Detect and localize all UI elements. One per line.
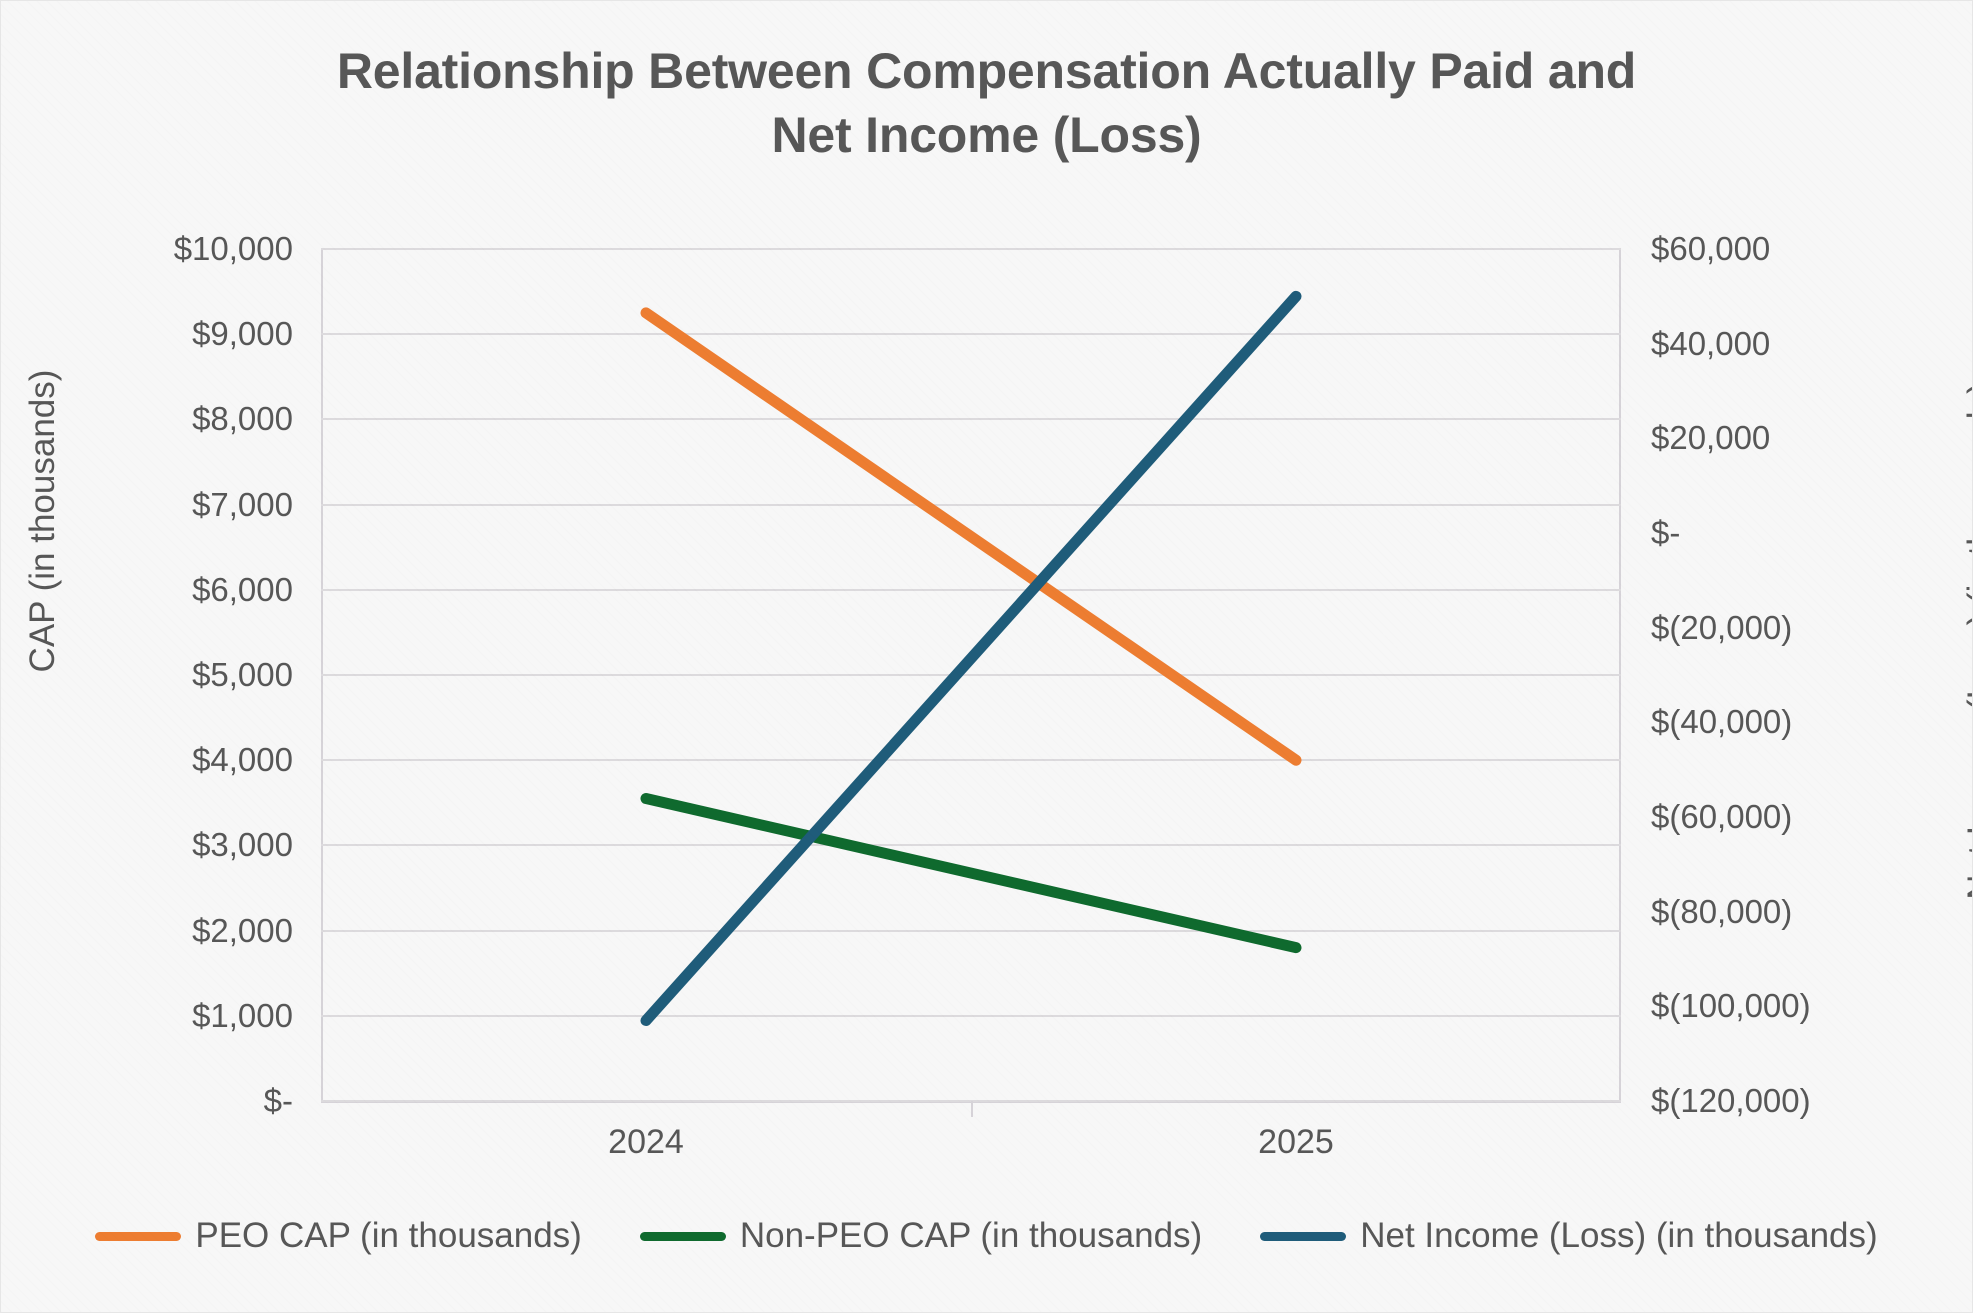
legend-label: PEO CAP (in thousands) [195,1216,582,1256]
left-axis-tick-label: $6,000 [192,571,293,609]
left-axis-tick-label: $2,000 [192,912,293,950]
x-axis-tick-mark [971,1101,973,1117]
left-axis-tick-label: $- [264,1082,293,1120]
plot-area [321,249,1621,1101]
series-line [646,296,1296,1020]
left-axis-tick-label: $8,000 [192,400,293,438]
series-line [646,313,1296,760]
legend-swatch-icon [1260,1232,1346,1241]
right-axis-tick-label: $(80,000) [1651,893,1792,931]
left-axis-tick-label: $7,000 [192,486,293,524]
right-axis-tick-label: $(40,000) [1651,703,1792,741]
series-line [646,799,1296,948]
legend-swatch-icon [640,1232,726,1241]
chart-title-line-2: Net Income (Loss) [1,103,1972,167]
left-axis-tick-label: $9,000 [192,315,293,353]
legend-label: Net Income (Loss) (in thousands) [1360,1216,1877,1256]
series-lines [321,249,1621,1101]
left-axis-tick-label: $10,000 [174,230,293,268]
right-axis-tick-label: $40,000 [1651,325,1770,363]
legend-item[interactable]: Non-PEO CAP (in thousands) [640,1216,1202,1256]
left-axis-tick-label: $3,000 [192,826,293,864]
x-axis-label: 2025 [1258,1123,1334,1162]
legend-label: Non-PEO CAP (in thousands) [740,1216,1202,1256]
left-axis-tick-label: $4,000 [192,741,293,779]
right-axis-tick-label: $60,000 [1651,230,1770,268]
legend-swatch-icon [95,1232,181,1241]
left-axis-title: CAP (in thousands) [23,241,63,801]
right-axis-tick-labels: $60,000$40,000$20,000$-$(20,000)$(40,000… [1651,249,1901,1101]
right-axis-tick-label: $(100,000) [1651,987,1811,1025]
chart-title: Relationship Between Compensation Actual… [1,39,1972,167]
right-axis-tick-label: $(20,000) [1651,609,1792,647]
left-axis-tick-label: $1,000 [192,997,293,1035]
right-axis-tick-label: $- [1651,514,1680,552]
left-axis-tick-labels: $10,000$9,000$8,000$7,000$6,000$5,000$4,… [61,249,293,1101]
right-axis-title: Net Income (Loss) (in thousands) [1961,301,1973,981]
x-axis-label: 2024 [608,1123,684,1162]
chart-container: Relationship Between Compensation Actual… [0,0,1973,1313]
legend-item[interactable]: PEO CAP (in thousands) [95,1216,582,1256]
right-axis-tick-label: $(60,000) [1651,798,1792,836]
right-axis-tick-label: $(120,000) [1651,1082,1811,1120]
chart-legend: PEO CAP (in thousands)Non-PEO CAP (in th… [1,1216,1972,1256]
chart-title-line-1: Relationship Between Compensation Actual… [1,39,1972,103]
left-axis-tick-label: $5,000 [192,656,293,694]
right-axis-tick-label: $20,000 [1651,419,1770,457]
legend-item[interactable]: Net Income (Loss) (in thousands) [1260,1216,1877,1256]
